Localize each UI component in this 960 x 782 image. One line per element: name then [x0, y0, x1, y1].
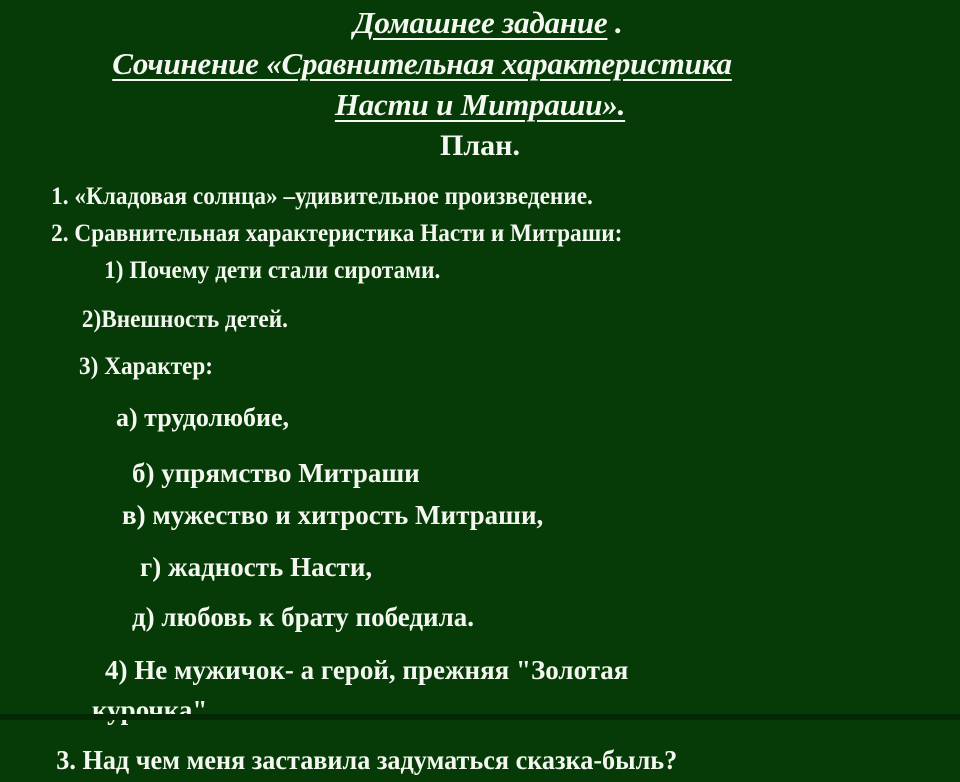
title-line-homework-period: .: [607, 5, 622, 40]
title-line-characters: Насти и Митраши».: [0, 84, 960, 125]
outline-item-2-1: 1) Почему дети стали сиротами.: [0, 252, 893, 289]
title-line-essay: Сочинение «Сравнительная характеристика: [0, 43, 960, 84]
title-line-homework-text: Домашнее задание: [353, 5, 607, 40]
title-line-homework: Домашнее задание .: [0, 2, 960, 43]
outline-item-2-4-wrap: курочка".: [0, 690, 960, 730]
outline-item-2-4: 4) Не мужичок- а герой, прежняя "Золотая: [0, 650, 960, 690]
title-line-characters-text: Насти и Митраши».: [335, 87, 625, 122]
outline-item-2-3-v: в) мужество и хитрость Митраши,: [0, 494, 960, 536]
outline-item-3: 3. Над чем меня заставила задуматься ска…: [0, 738, 931, 782]
outline-item-2-3: 3) Характер:: [0, 348, 893, 385]
outline-item-2-3-d: д) любовь к брату победила.: [0, 596, 960, 638]
slide-bottom-edge: [0, 714, 960, 720]
title-line-essay-text: Сочинение «Сравнительная характеристика: [110, 43, 850, 84]
outline-item-2: 2. Сравнительная характеристика Насти и …: [0, 215, 893, 252]
slide-title-block: Домашнее задание . Сочинение «Сравнитель…: [0, 0, 960, 166]
outline-item-2-3-a: а) трудолюбие,: [0, 397, 960, 438]
outline-item-2-2: 2)Внешность детей.: [0, 301, 893, 338]
presentation-slide: Домашнее задание . Сочинение «Сравнитель…: [0, 0, 960, 720]
outline-item-2-3-g: г) жадность Насти,: [0, 546, 960, 588]
outline-item-2-3-b: б) упрямство Митраши: [0, 452, 960, 494]
outline-list: 1. «Кладовая солнца» –удивительное произ…: [0, 178, 960, 782]
plan-heading: План.: [0, 126, 960, 166]
outline-item-1: 1. «Кладовая солнца» –удивительное произ…: [0, 178, 893, 215]
